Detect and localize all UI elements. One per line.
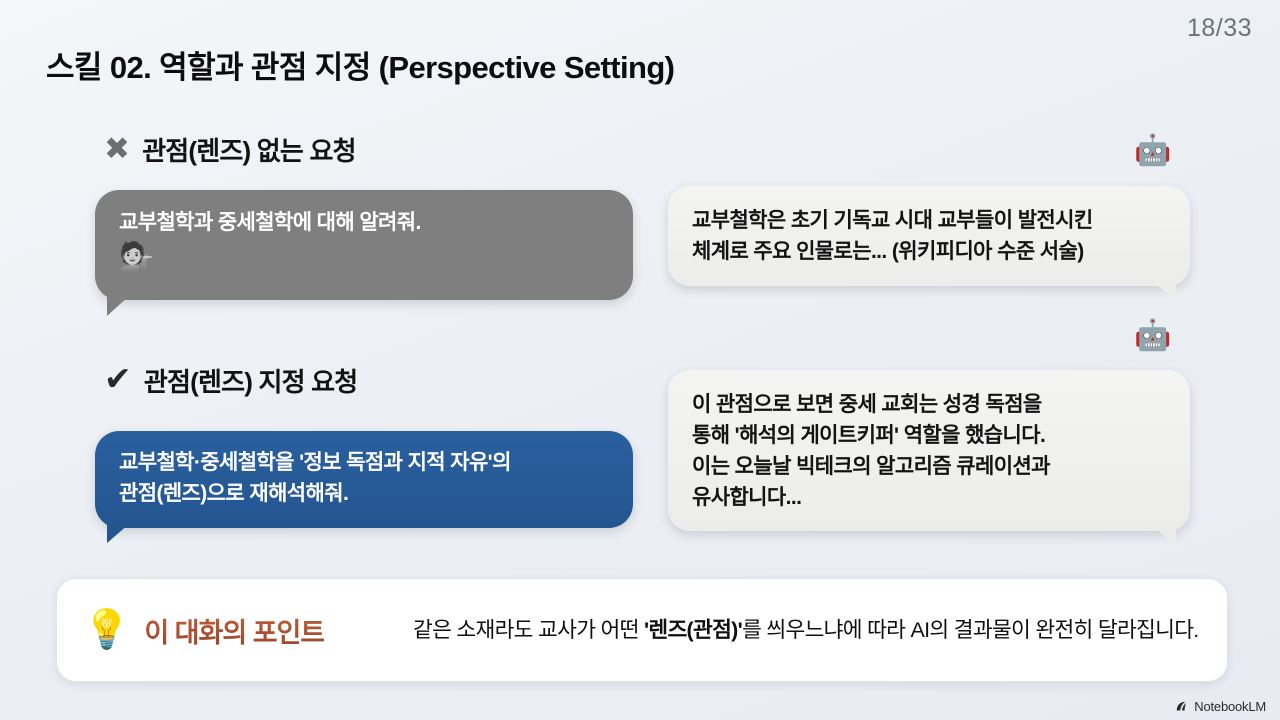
person-emoji: 💁 (119, 243, 609, 271)
user-message-text-prefix: 교부철학·중세철학을 (119, 451, 299, 474)
ai-message-line: 유사합니다... (692, 483, 1166, 514)
slide-canvas: 18/33 스킬 02. 역할과 관점 지정 (Perspective Sett… (0, 0, 1280, 720)
callout-label-group: 💡 이 대화의 포인트 (83, 611, 413, 650)
section-header-without-lens: ✖ 관점(렌즈) 없는 요청 (104, 131, 356, 168)
section-label-with-lens: 관점(렌즈) 지정 요청 (144, 362, 358, 399)
user-message-emphasis-lens-topic: '정보 독점과 지적 자유' (299, 451, 492, 474)
check-mark-icon: ✔ (104, 362, 131, 395)
user-message-line-2: 관점(렌즈)으로 재해석해줘. (119, 479, 609, 510)
ai-message-line: 이 관점으로 보면 중세 교회는 성경 독점을 (692, 390, 1166, 421)
section-label-without-lens: 관점(렌즈) 없는 요청 (142, 131, 356, 168)
key-point-callout: 💡 이 대화의 포인트 같은 소재라도 교사가 어떤 '렌즈(관점)'를 씌우느… (56, 578, 1228, 682)
cross-mark-icon: ✖ (104, 133, 129, 164)
callout-body-suffix: 를 씌우느냐에 따라 AI의 결과물이 완전히 달라집니다. (742, 618, 1199, 642)
bubble-tail (107, 296, 129, 316)
callout-body: 같은 소재라도 교사가 어떤 '렌즈(관점)'를 씌우느냐에 따라 AI의 결과… (413, 615, 1201, 646)
watermark-label: NotebookLM (1194, 699, 1266, 714)
user-message-text-tail: 으로 재해석해줘. (207, 482, 349, 505)
ai-message-bubble-without-lens: 교부철학은 초기 기독교 시대 교부들이 발전시킨 체계로 주요 인물로는...… (668, 186, 1190, 286)
user-message-emphasis-lens-word: 관점(렌즈) (119, 482, 207, 505)
robot-emoji-1: 🤖 (1134, 136, 1171, 166)
bubble-tail (1154, 282, 1176, 301)
callout-title: 이 대화의 포인트 (144, 611, 324, 650)
ai-message-line: 교부철학은 초기 기독교 시대 교부들이 발전시킨 (692, 206, 1166, 237)
user-message-line-1: 교부철학·중세철학을 '정보 독점과 지적 자유'의 (119, 448, 609, 479)
page-title: 스킬 02. 역할과 관점 지정 (Perspective Setting) (46, 42, 674, 87)
light-bulb-icon: 💡 (83, 611, 130, 649)
bubble-tail (107, 524, 129, 543)
ai-message-line: 통해 '해석의 게이트키퍼' 역할을 했습니다. (692, 421, 1166, 452)
bubble-tail (1154, 527, 1176, 546)
user-message-text-without-lens: 교부철학과 중세철학에 대해 알려줘. (119, 208, 609, 239)
ai-message-line: 체계로 주요 인물로는... (위키피디아 수준 서술) (692, 237, 1166, 268)
user-message-bubble-with-lens: 교부철학·중세철학을 '정보 독점과 지적 자유'의 관점(렌즈)으로 재해석해… (95, 431, 633, 528)
ai-message-line: 이는 오늘날 빅테크의 알고리즘 큐레이션과 (692, 452, 1166, 483)
user-message-bubble-without-lens: 교부철학과 중세철학에 대해 알려줘. 💁 (95, 190, 633, 300)
page-indicator: 18/33 (1187, 14, 1252, 43)
callout-body-emphasis: '렌즈(관점)' (644, 618, 742, 642)
user-message-text-suffix: 의 (492, 451, 511, 474)
robot-emoji-2: 🤖 (1134, 321, 1171, 351)
notebooklm-watermark: NotebookLM (1175, 699, 1266, 714)
notebooklm-logo-icon (1175, 700, 1189, 714)
callout-body-prefix: 같은 소재라도 교사가 어떤 (413, 618, 644, 642)
section-header-with-lens: ✔ 관점(렌즈) 지정 요청 (104, 362, 357, 399)
ai-message-bubble-with-lens: 이 관점으로 보면 중세 교회는 성경 독점을 통해 '해석의 게이트키퍼' 역… (668, 370, 1190, 531)
